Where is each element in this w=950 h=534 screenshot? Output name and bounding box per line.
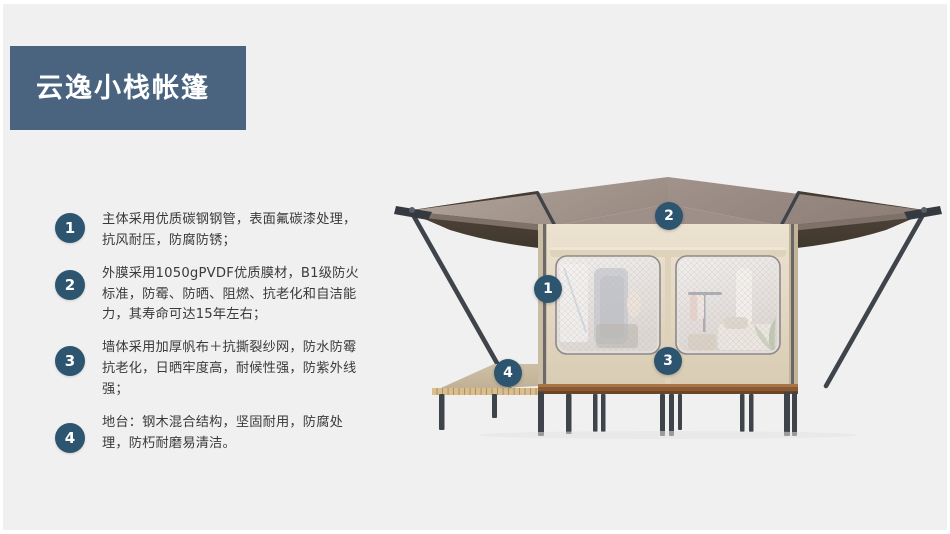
window-right: [676, 256, 780, 354]
feature-item-2: 2 外膜采用1050gPVDF优质膜材，B1级防火标准，防霉、防晒、阻燃、抗老化…: [55, 264, 375, 327]
feature-item-4: 4 地台：钢木混合结构，坚固耐用，防腐处理，防朽耐磨易清洁。: [55, 413, 375, 455]
feature-text-2: 外膜采用1050gPVDF优质膜材，B1级防火标准，防霉、防晒、阻燃、抗老化和自…: [102, 264, 364, 327]
support-legs: [439, 392, 797, 436]
feature-text-4: 地台：钢木混合结构，坚固耐用，防腐处理，防朽耐磨易清洁。: [102, 413, 364, 455]
feature-badge-3: 3: [55, 346, 85, 376]
page-title: 云逸小栈帐篷: [36, 75, 210, 102]
callout-badge-1[interactable]: 1: [534, 275, 562, 303]
feature-text-1: 主体采用优质碳钢钢管，表面氟碳漆处理，抗风耐压，防腐防锈；: [102, 210, 364, 252]
feature-item-1: 1 主体采用优质碳钢钢管，表面氟碳漆处理，抗风耐压，防腐防锈；: [55, 210, 375, 252]
callout-badge-3[interactable]: 3: [654, 347, 682, 375]
title-banner: 云逸小栈帐篷: [10, 46, 246, 130]
feature-list: 1 主体采用优质碳钢钢管，表面氟碳漆处理，抗风耐压，防腐防锈； 2 外膜采用10…: [55, 210, 375, 467]
feature-badge-2: 2: [55, 270, 85, 300]
feature-badge-4: 4: [55, 423, 85, 453]
feature-badge-1: 1: [55, 213, 85, 243]
feature-text-3: 墙体采用加厚帆布＋抗撕裂纱网，防水防霉抗老化，日晒牢度高，耐候性强，防紫外线强；: [102, 338, 364, 401]
callout-badge-4[interactable]: 4: [494, 359, 522, 387]
slide-canvas: 云逸小栈帐篷 1 主体采用优质碳钢钢管，表面氟碳漆处理，抗风耐压，防腐防锈； 2…: [0, 0, 950, 534]
feature-item-3: 3 墙体采用加厚帆布＋抗撕裂纱网，防水防霉抗老化，日晒牢度高，耐候性强，防紫外线…: [55, 338, 375, 401]
window-left: [556, 256, 660, 354]
callout-badge-2[interactable]: 2: [655, 202, 683, 230]
